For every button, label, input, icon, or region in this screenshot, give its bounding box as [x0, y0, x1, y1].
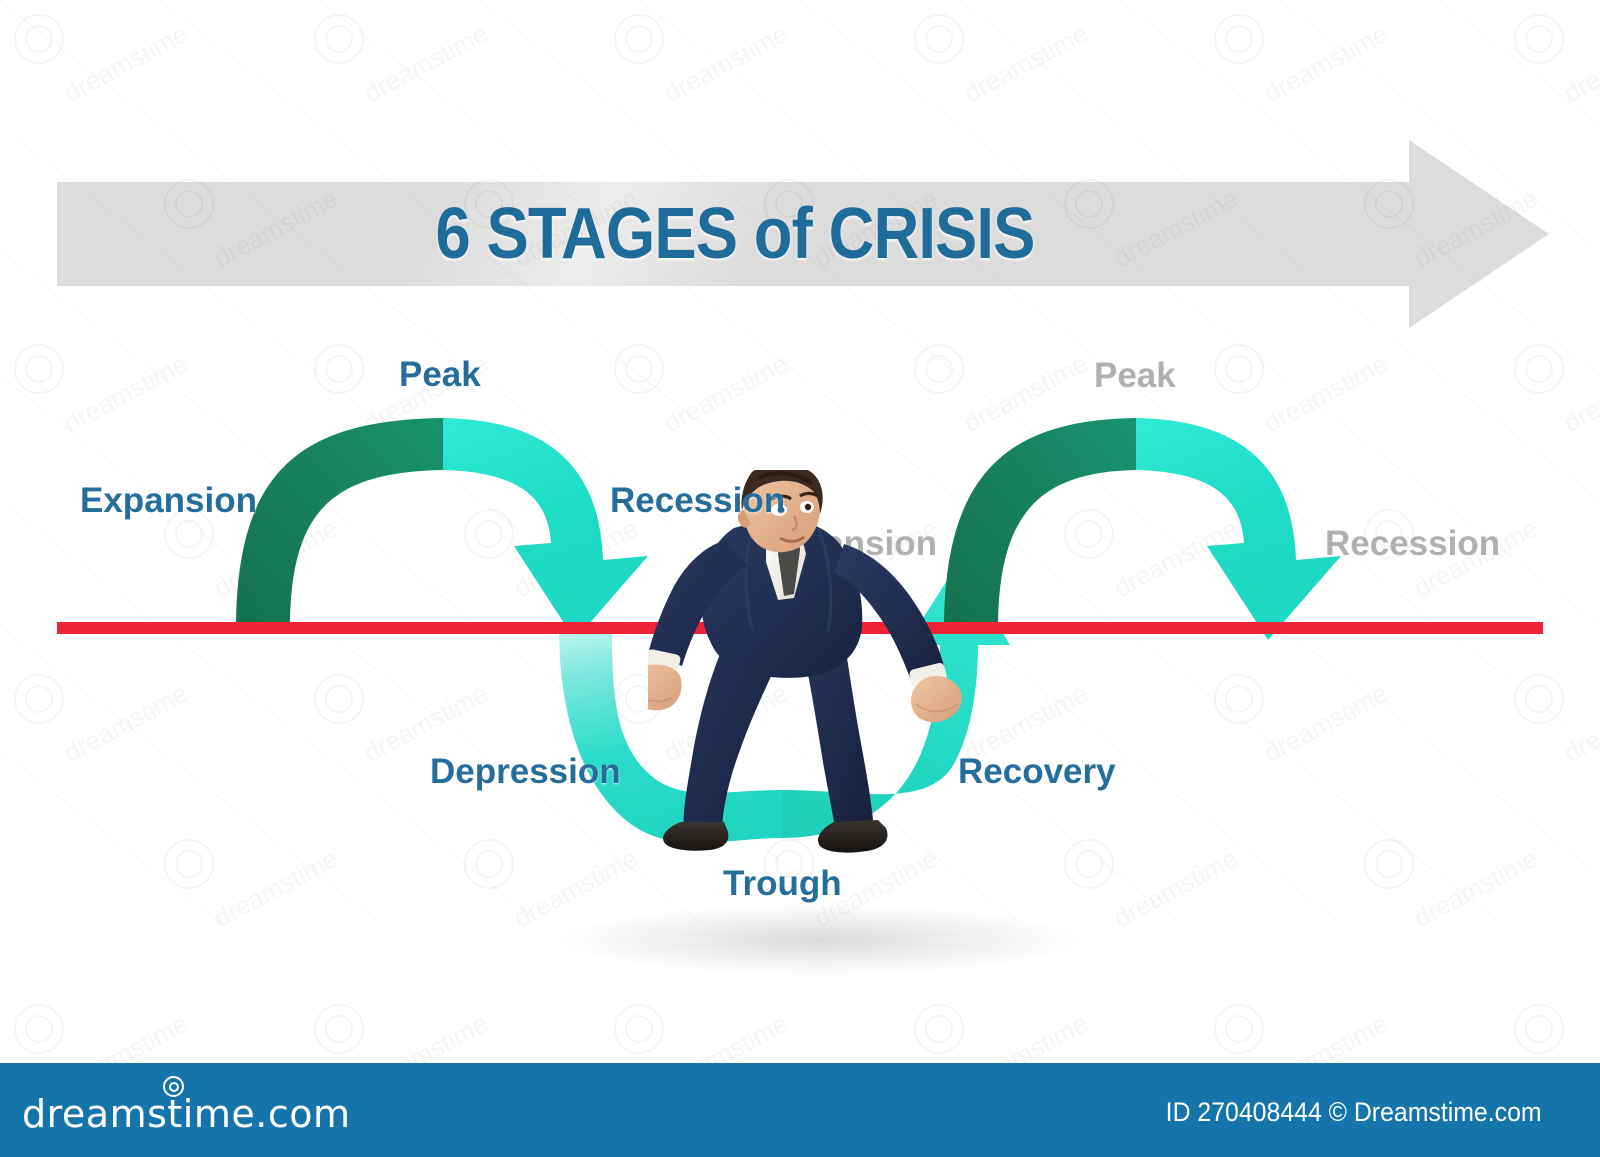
arc-recession-2	[1136, 418, 1341, 640]
label-peak: Peak	[399, 355, 481, 395]
label-peak-repeat: Peak	[1094, 356, 1176, 396]
image-credit: ID 270408444 © Dreamstime.com	[1166, 1097, 1542, 1128]
label-recession-repeat: Recession	[1325, 524, 1500, 564]
label-recovery: Recovery	[958, 752, 1116, 792]
spiral-icon	[163, 1076, 184, 1097]
arc-expansion-1	[236, 418, 443, 630]
arc-recession-1	[443, 418, 648, 640]
dreamstime-logo[interactable]: dreamstime.com	[22, 1092, 350, 1136]
label-depression: Depression	[430, 752, 621, 792]
infographic-canvas: dreamstimedreamstimedreamstimedreamstime…	[0, 0, 1600, 1157]
label-trough: Trough	[723, 864, 842, 904]
label-recession: Recession	[610, 481, 785, 521]
businessman-figure	[648, 470, 978, 860]
label-expansion: Expansion	[80, 481, 257, 521]
dreamstime-logo-text: dreamstime.com	[22, 1092, 350, 1136]
